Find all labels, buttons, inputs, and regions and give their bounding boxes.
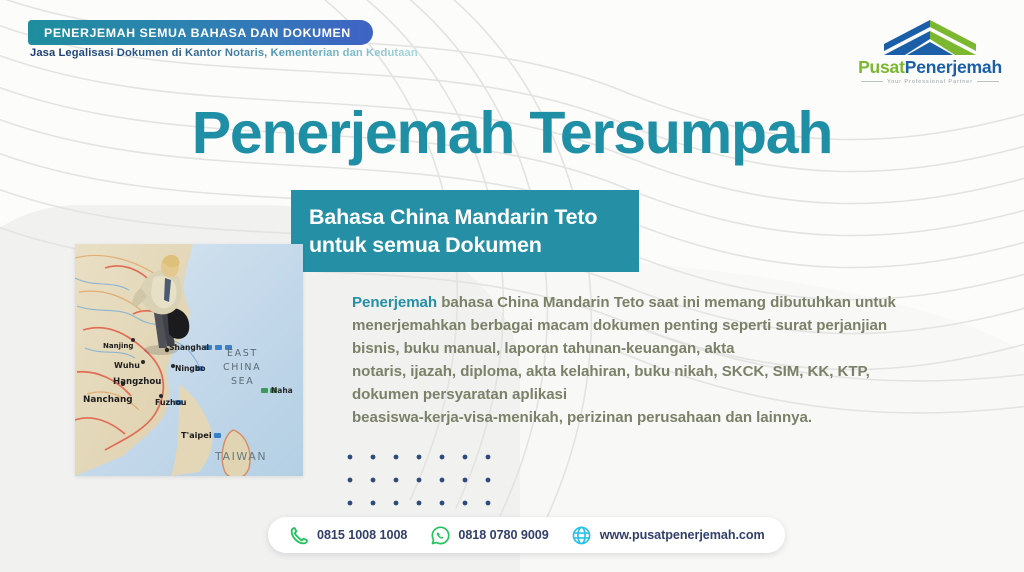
poster-canvas: PENERJEMAH SEMUA BAHASA DAN DOKUMEN Jasa… (0, 0, 1024, 572)
svg-text:EAST: EAST (227, 348, 258, 359)
svg-text:Fuzhou: Fuzhou (155, 398, 186, 407)
logo-tagline: Your Professional Partner (887, 79, 973, 85)
whatsapp-icon (429, 524, 451, 546)
contact-item-whatsapp[interactable]: 0818 0780 9009 (429, 524, 548, 546)
logo-word-pusat: Pusat (858, 57, 905, 77)
body-line-1: Penerjemah bahasa China Mandarin Teto sa… (352, 292, 962, 315)
svg-text:Nanchang: Nanchang (83, 395, 133, 405)
body-paragraph: Penerjemah bahasa China Mandarin Teto sa… (352, 292, 962, 430)
svg-text:CHINA: CHINA (223, 362, 261, 373)
svg-text:TAIWAN: TAIWAN (214, 450, 267, 463)
roof-chevron-logo-icon (875, 18, 985, 58)
contact-website-label: www.pusatpenerjemah.com (600, 528, 765, 542)
contact-bar: 0815 1008 1008 0818 0780 9009 www.pusatp… (268, 517, 785, 553)
body-line-3: bisnis, buku manual, laporan tahunan-keu… (352, 338, 962, 361)
svg-text:Hangzhou: Hangzhou (113, 377, 161, 387)
logo-wordmark: PusatPenerjemah (852, 59, 1008, 77)
contact-item-website[interactable]: www.pusatpenerjemah.com (571, 524, 765, 546)
map-photo: Shanghai Wuhu Hangzhou Nanchang Ningbo F… (75, 244, 303, 476)
body-line-4: notaris, ijazah, diploma, akta kelahiran… (352, 361, 962, 384)
body-highlight: Penerjemah (352, 294, 437, 311)
hero-subtitle-line-2: untuk semua Dokumen (309, 231, 621, 259)
logo-tagline-rule-right (977, 81, 999, 82)
brand-logo[interactable]: PusatPenerjemah Your Professional Partne… (852, 18, 1008, 85)
svg-text:Nanjing: Nanjing (103, 342, 133, 350)
header-subtitle: Jasa Legalisasi Dokumen di Kantor Notari… (30, 47, 418, 59)
body-line-6: beasiswa-kerja-visa-menikah, perizinan p… (352, 407, 962, 430)
header-badge: PENERJEMAH SEMUA BAHASA DAN DOKUMEN (28, 20, 373, 45)
svg-text:Ningbo: Ningbo (175, 364, 205, 373)
header-badge-label: PENERJEMAH SEMUA BAHASA DAN DOKUMEN (44, 26, 351, 40)
hero-subtitle-line-1: Bahasa China Mandarin Teto (309, 203, 621, 231)
contact-item-phone[interactable]: 0815 1008 1008 (288, 524, 407, 546)
phone-icon (288, 524, 310, 546)
body-line-2: menerjemahkan berbagai macam dokumen pen… (352, 315, 962, 338)
body-line-5: dokumen persyaratan aplikasi (352, 384, 962, 407)
hero-subtitle-panel: Bahasa China Mandarin Teto untuk semua D… (291, 190, 639, 272)
contact-phone-label: 0815 1008 1008 (317, 528, 407, 542)
body-line-1-rest: bahasa China Mandarin Teto saat ini mema… (437, 294, 896, 311)
svg-text:T'aipei: T'aipei (181, 430, 212, 440)
logo-tagline-rule-left (861, 81, 883, 82)
logo-word-penerjemah: Penerjemah (905, 57, 1002, 77)
svg-text:Wuhu: Wuhu (114, 361, 140, 370)
svg-text:Naha: Naha (271, 386, 293, 395)
page-title: Penerjemah Tersumpah (0, 103, 1024, 165)
contact-whatsapp-label: 0818 0780 9009 (458, 528, 548, 542)
svg-text:SEA: SEA (231, 376, 254, 387)
map-photo-illustration: Shanghai Wuhu Hangzhou Nanchang Ningbo F… (75, 244, 303, 476)
logo-tagline-row: Your Professional Partner (852, 79, 1008, 85)
globe-icon (571, 524, 593, 546)
